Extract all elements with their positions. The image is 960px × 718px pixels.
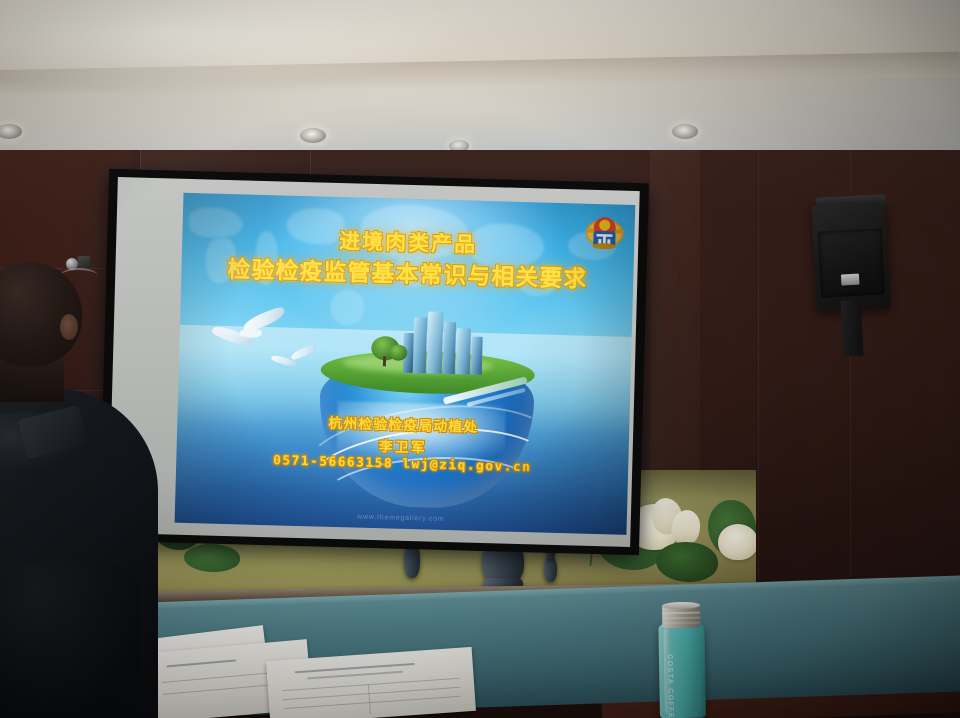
recessed-downlight [300, 128, 326, 143]
recessed-downlight [0, 124, 22, 139]
projected-slide: 进境肉类产品 检验检疫监管基本常识与相关要求 [175, 193, 636, 535]
tree-trunk [383, 356, 386, 366]
room-photo-scene: 进境肉类产品 检验检疫监管基本常识与相关要求 [0, 0, 960, 718]
recessed-downlight [672, 124, 698, 139]
city-skyline-graphic [427, 311, 444, 373]
projection-screen: 进境肉类产品 检验检疫监管基本常识与相关要求 [99, 169, 649, 555]
ceramic-vase-ornament [544, 556, 557, 582]
speaker-badge [841, 274, 860, 286]
seagull-graphic [271, 347, 318, 370]
city-skyline-graphic [456, 328, 471, 374]
travel-tumbler[interactable]: COSTA COFFEE [658, 602, 706, 718]
attendee-ear [60, 314, 78, 340]
wall-speaker [811, 202, 890, 312]
seated-attendee [0, 560, 140, 718]
tumbler-brand-label: COSTA COFFEE [666, 654, 674, 718]
ceiling-light-glow [0, 0, 480, 90]
speaker-mount-bracket [841, 300, 864, 357]
speaker-grille [818, 228, 885, 297]
screen-surface: 进境肉类产品 检验检疫监管基本常识与相关要求 [108, 177, 639, 547]
city-skyline-graphic [443, 322, 456, 374]
city-skyline-graphic [413, 317, 428, 373]
city-skyline-graphic [471, 337, 483, 375]
